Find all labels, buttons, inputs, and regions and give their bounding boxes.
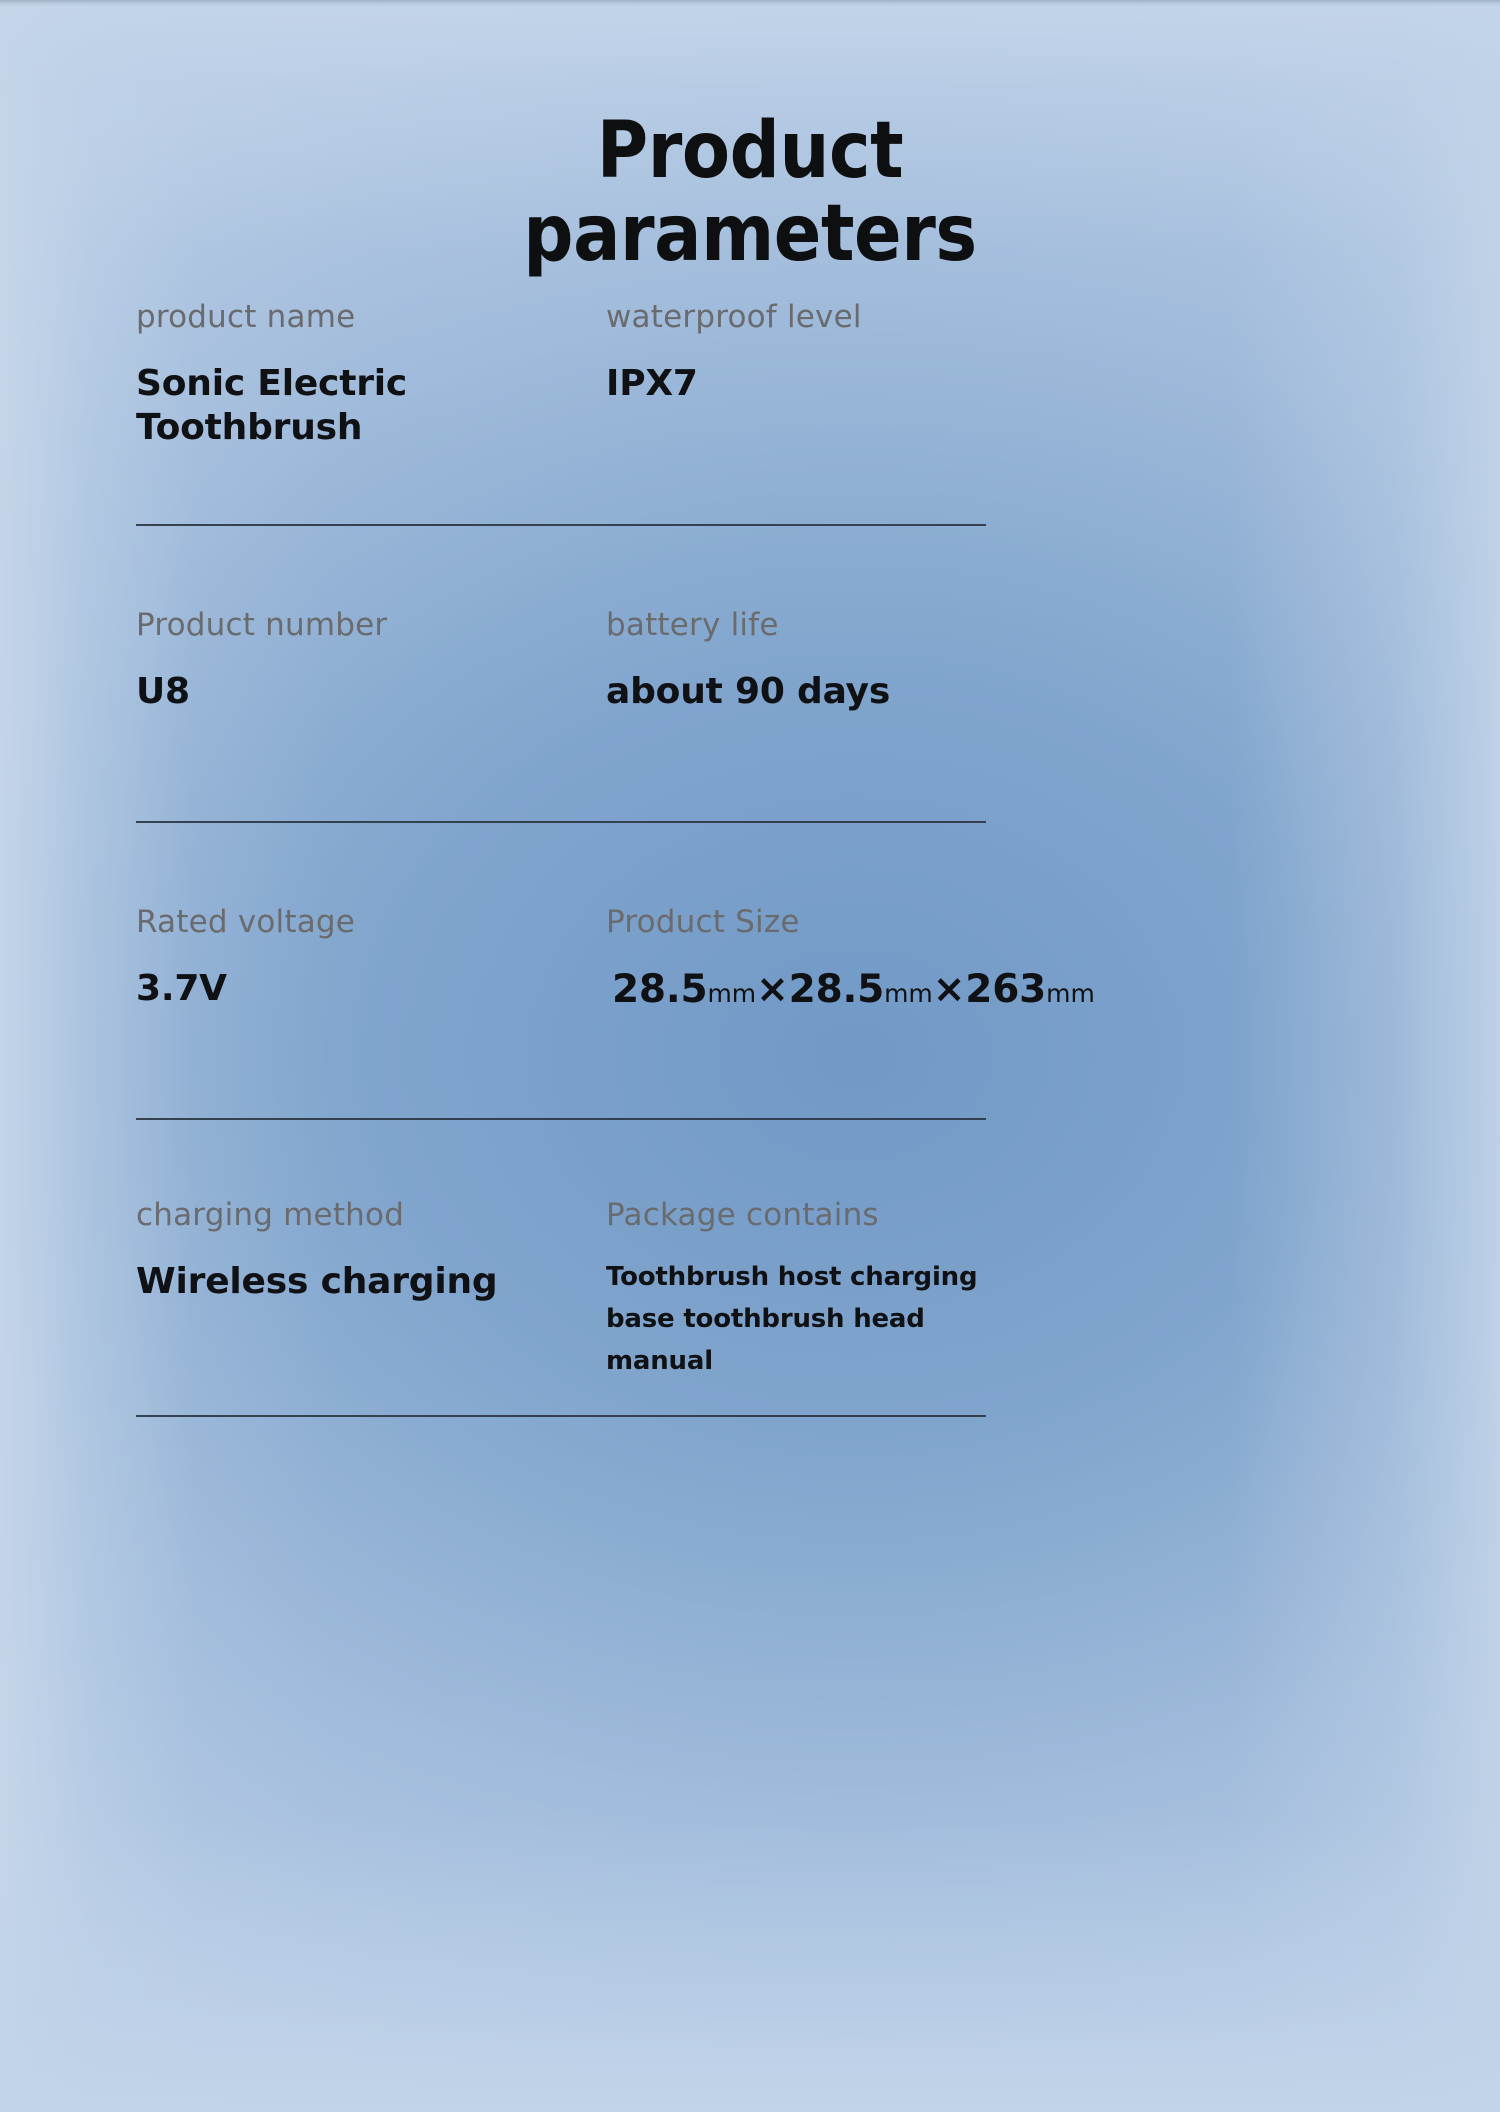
size-separator-2: × bbox=[933, 967, 965, 1012]
spec-label-product-size: Product Size bbox=[606, 905, 1095, 941]
spec-divider-4 bbox=[136, 1415, 986, 1417]
spec-value-charging-method: Wireless charging bbox=[136, 1260, 606, 1304]
page-content: Product parameters product name Sonic El… bbox=[0, 0, 1500, 2112]
spec-label-product-name: product name bbox=[136, 300, 606, 336]
spec-label-rated-voltage: Rated voltage bbox=[136, 905, 606, 941]
spec-value-product-size: 28.5mm×28.5mm×263mm bbox=[606, 967, 1095, 1014]
size-dim-1-number: 28.5 bbox=[612, 967, 707, 1012]
package-contains-line-1: Toothbrush host charging bbox=[606, 1256, 1026, 1298]
spec-value-product-number: U8 bbox=[136, 670, 606, 714]
spec-value-rated-voltage: 3.7V bbox=[136, 967, 606, 1011]
spec-value-waterproof-level: IPX7 bbox=[606, 362, 986, 406]
spec-cell-product-number: Product number U8 bbox=[136, 608, 606, 714]
spec-label-waterproof-level: waterproof level bbox=[606, 300, 986, 336]
spec-cell-rated-voltage: Rated voltage 3.7V bbox=[136, 905, 606, 1011]
spec-cell-product-name: product name Sonic Electric Toothbrush bbox=[136, 300, 606, 449]
spec-row-charging-method: charging method Wireless charging Packag… bbox=[136, 1120, 986, 1415]
spec-cell-charging-method: charging method Wireless charging bbox=[136, 1198, 606, 1304]
spec-cell-product-size: Product Size 28.5mm×28.5mm×263mm bbox=[606, 905, 1095, 1013]
size-dim-1-unit: mm bbox=[707, 979, 756, 1008]
spec-value-battery-life: about 90 days bbox=[606, 670, 986, 714]
size-dim-3-number: 263 bbox=[965, 967, 1046, 1012]
spec-cell-battery-life: battery life about 90 days bbox=[606, 608, 986, 714]
spec-cell-package-contains: Package contains Toothbrush host chargin… bbox=[606, 1198, 1026, 1382]
size-dim-3-unit: mm bbox=[1046, 979, 1095, 1008]
spec-cell-waterproof-level: waterproof level IPX7 bbox=[606, 300, 986, 406]
size-dim-2-number: 28.5 bbox=[789, 967, 884, 1012]
spec-row-product-name: product name Sonic Electric Toothbrush w… bbox=[136, 300, 986, 524]
spec-label-battery-life: battery life bbox=[606, 608, 986, 644]
size-separator-1: × bbox=[756, 967, 788, 1012]
page-title-line-2: parameters bbox=[75, 193, 1425, 276]
spec-value-product-name: Sonic Electric Toothbrush bbox=[136, 362, 466, 450]
spec-value-package-contains: Toothbrush host charging base toothbrush… bbox=[606, 1256, 1026, 1382]
spec-label-charging-method: charging method bbox=[136, 1198, 606, 1234]
package-contains-line-2: base toothbrush head manual bbox=[606, 1298, 1026, 1382]
page-title-line-1: Product bbox=[75, 110, 1425, 193]
spec-label-package-contains: Package contains bbox=[606, 1198, 1026, 1234]
specification-table: product name Sonic Electric Toothbrush w… bbox=[136, 300, 986, 1417]
spec-row-rated-voltage: Rated voltage 3.7V Product Size 28.5mm×2… bbox=[136, 823, 986, 1118]
page-title: Product parameters bbox=[75, 110, 1425, 275]
product-parameters-page: Product parameters product name Sonic El… bbox=[0, 0, 1500, 2112]
spec-row-product-number: Product number U8 battery life about 90 … bbox=[136, 526, 986, 821]
spec-label-product-number: Product number bbox=[136, 608, 606, 644]
size-dim-2-unit: mm bbox=[884, 979, 933, 1008]
